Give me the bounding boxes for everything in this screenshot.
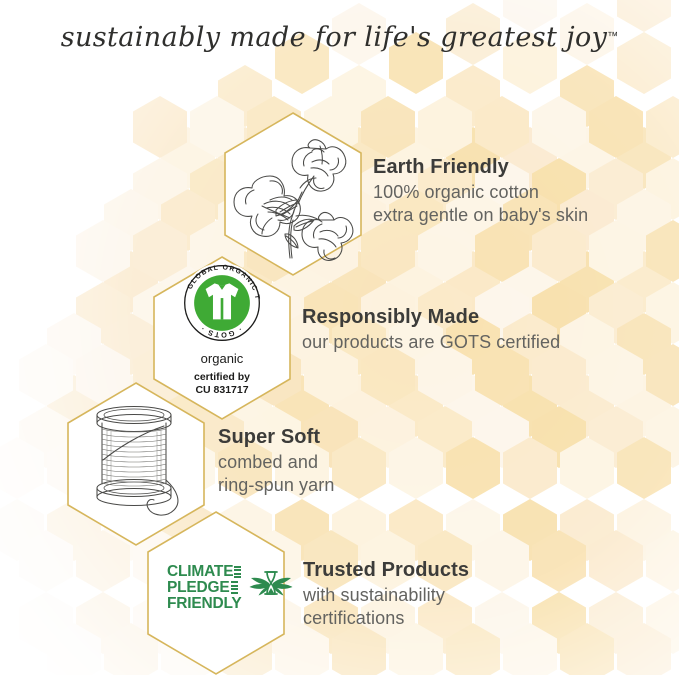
cpf-bars-icon — [231, 581, 238, 594]
cotton-branch-illustration — [228, 126, 360, 262]
climate-pledge-friendly-logo: CLIMATE PLEDGE FRIENDLY — [167, 564, 294, 611]
feature-line: our products are GOTS certified — [302, 331, 560, 354]
gots-caption: organic — [158, 351, 286, 367]
feature-line: 100% organic cotton — [373, 181, 588, 204]
feature-title: Responsibly Made — [302, 305, 560, 331]
gots-certified-by: certified by — [158, 371, 286, 384]
gots-seal-icon: GLOBAL ORGANIC TEXTILE STANDARD · GOTS · — [181, 262, 263, 344]
cpf-line-2: PLEDGE — [167, 580, 230, 596]
feature-line: with sustainability — [303, 584, 469, 607]
feature-super-soft: Super Soft combed and ring-spun yarn — [218, 425, 334, 497]
feature-title: Super Soft — [218, 425, 334, 451]
thread-spool-illustration — [78, 398, 202, 526]
feature-line: ring-spun yarn — [218, 474, 334, 497]
cpf-line-3: FRIENDLY — [167, 596, 241, 612]
cpf-wordmark: CLIMATE PLEDGE FRIENDLY — [167, 564, 241, 611]
feature-line: extra gentle on baby's skin — [373, 204, 588, 227]
headline: sustainably made for life's greatest joy… — [0, 22, 679, 53]
feature-trusted-products: Trusted Products with sustainability cer… — [303, 558, 469, 630]
feature-line: certifications — [303, 607, 469, 630]
feature-title: Earth Friendly — [373, 155, 588, 181]
headline-text: sustainably made for life's greatest joy — [61, 22, 608, 53]
gots-certificate-number: CU 831717 — [158, 384, 286, 397]
feature-line: combed and — [218, 451, 334, 474]
gots-organic-certification-logo: GLOBAL ORGANIC TEXTILE STANDARD · GOTS ·… — [158, 262, 286, 397]
sustainability-infographic: sustainably made for life's greatest joy… — [0, 0, 679, 675]
trademark-symbol: ™ — [607, 31, 618, 43]
winged-hourglass-icon — [248, 568, 294, 608]
feature-title: Trusted Products — [303, 558, 469, 584]
cpf-line-1: CLIMATE — [167, 564, 233, 580]
feature-responsibly-made: Responsibly Made our products are GOTS c… — [302, 305, 560, 354]
cpf-bars-icon — [234, 566, 241, 579]
feature-earth-friendly: Earth Friendly 100% organic cotton extra… — [373, 155, 588, 227]
